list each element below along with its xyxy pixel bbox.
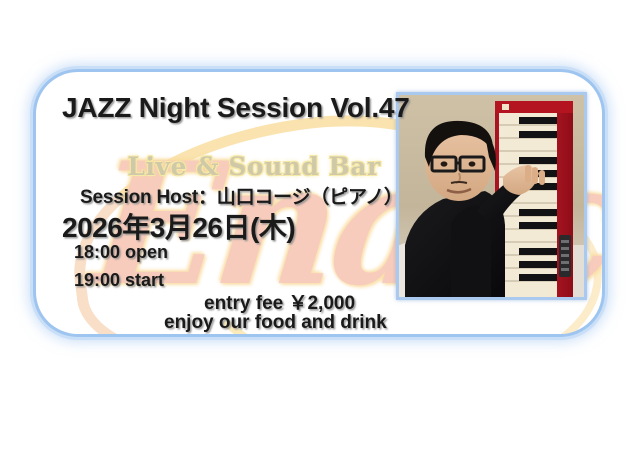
event-date: 2026年3月26日(木) — [62, 206, 295, 246]
entry-fee: entry fee ￥2,000 — [204, 288, 355, 315]
flyer-canvas: Enarch Live & Sound Bar — [0, 0, 640, 452]
flyer-text-block: JAZZ Night Session Vol.47 Session Host：山… — [36, 72, 602, 334]
flyer-card: Enarch Live & Sound Bar — [36, 72, 602, 334]
flyer-title: JAZZ Night Session Vol.47 — [62, 92, 410, 124]
start-time: 19:00 start — [74, 270, 164, 291]
food-and-drink-note: enjoy our food and drink — [164, 312, 387, 334]
open-time: 18:00 open — [74, 242, 168, 263]
session-host-line: Session Host：山口コージ（ピアノ） — [80, 182, 403, 209]
